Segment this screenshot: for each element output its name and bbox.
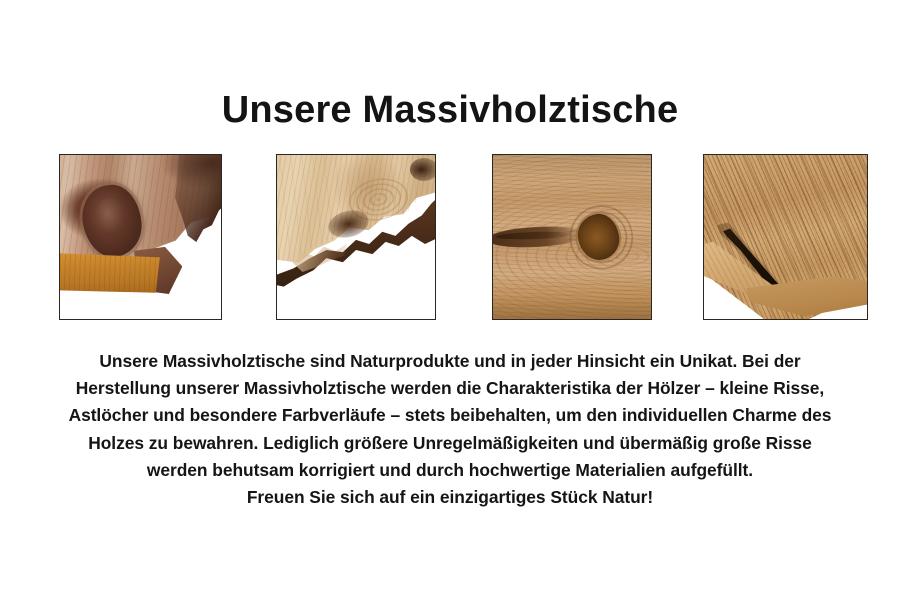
wood-photo-3 xyxy=(492,154,652,320)
description-line-3: Astlöcher und besondere Farbverläufe – s… xyxy=(22,402,878,429)
description-text: Unsere Massivholztische sind Naturproduk… xyxy=(22,348,878,511)
page-title: Unsere Massivholztische xyxy=(0,89,900,132)
wood-photo-4-image xyxy=(704,155,867,319)
description-line-6: Freuen Sie sich auf ein einzigartiges St… xyxy=(22,484,878,511)
top-shading xyxy=(493,155,651,181)
description-line-2: Herstellung unserer Massivholztische wer… xyxy=(22,375,878,402)
table-edge-face xyxy=(60,253,160,292)
wood-photo-4 xyxy=(703,154,868,320)
wood-photo-strip xyxy=(19,138,881,304)
infographic-page: Unsere Massivholztische xyxy=(0,0,900,600)
wood-photo-2-image xyxy=(277,155,435,319)
wood-photo-3-image xyxy=(493,155,651,319)
description-line-4: Holzes zu bewahren. Lediglich größere Un… xyxy=(22,430,878,457)
wood-photo-1-image xyxy=(60,155,221,319)
wood-photo-2 xyxy=(276,154,436,320)
wood-photo-1 xyxy=(59,154,222,320)
dark-knot xyxy=(410,158,435,181)
description-line-1: Unsere Massivholztische sind Naturproduk… xyxy=(22,348,878,375)
description-line-5: werden behutsam korrigiert und durch hoc… xyxy=(22,457,878,484)
bottom-shading xyxy=(493,296,651,319)
